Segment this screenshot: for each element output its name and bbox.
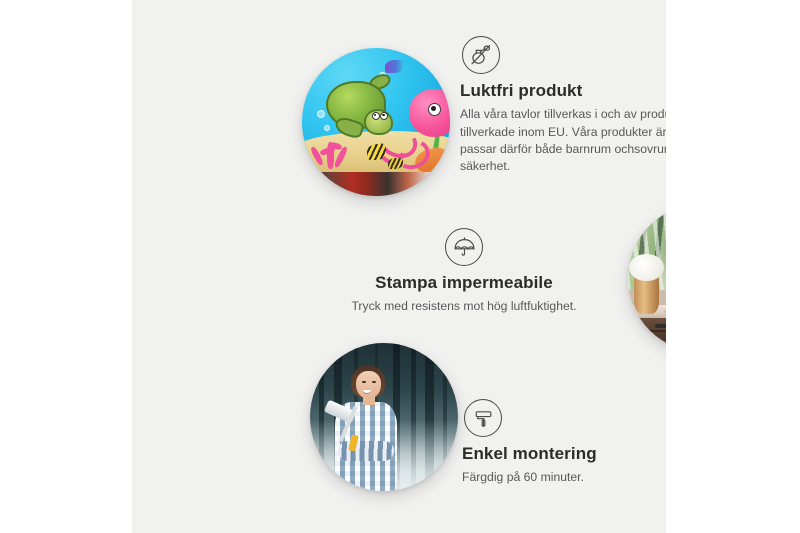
umbrella-icon: [445, 228, 483, 266]
feature-easy-mount: Enkel montering Färgdig på 60 minuter.: [462, 399, 666, 487]
infographic-stage: Luktfri produkt Alla våra tavlor tillver…: [0, 0, 800, 533]
cabinet-seam: [637, 330, 666, 332]
product-photo-aquatic-mural[interactable]: [302, 48, 450, 196]
crossed-arms: [338, 441, 394, 462]
cabinet-handle: [655, 324, 666, 328]
woman-neck: [363, 396, 375, 405]
turtle-eye: [372, 112, 380, 120]
white-flowers: [629, 254, 663, 281]
no-smell-spray-bottle-icon: [462, 36, 500, 74]
aquatic-artwork: [302, 48, 450, 196]
feature-description: Tryck med resistens mot hög luftfuktighe…: [330, 298, 598, 315]
wood-vanity-cabinet: [628, 318, 666, 352]
room-photo-strip: [302, 172, 450, 196]
feature-description: Färgdig på 60 minuter.: [462, 469, 666, 486]
feature-odourless: Luktfri produkt Alla våra tavlor tillver…: [460, 36, 666, 176]
feature-title: Luktfri produkt: [460, 81, 666, 101]
painter-artwork: [310, 343, 458, 491]
feature-title: Stampa impermeabile: [330, 273, 598, 293]
product-photo-painter-mural[interactable]: [310, 343, 458, 491]
bathroom-artwork: [628, 204, 666, 352]
yellow-fish-icon: [388, 158, 403, 170]
woman-face: [356, 371, 381, 399]
bubble-icon: [317, 110, 325, 118]
feature-title: Enkel montering: [462, 444, 666, 464]
infographic-panel: Luktfri produkt Alla våra tavlor tillver…: [132, 0, 666, 533]
product-photo-bathroom-mural[interactable]: [628, 204, 666, 352]
feature-description: Alla våra tavlor tillverkas i och av pro…: [460, 106, 666, 175]
feature-waterproof: Stampa impermeabile Tryck med resistens …: [330, 228, 598, 316]
paint-roller-icon: [464, 399, 502, 437]
octopus-eye: [428, 103, 441, 116]
